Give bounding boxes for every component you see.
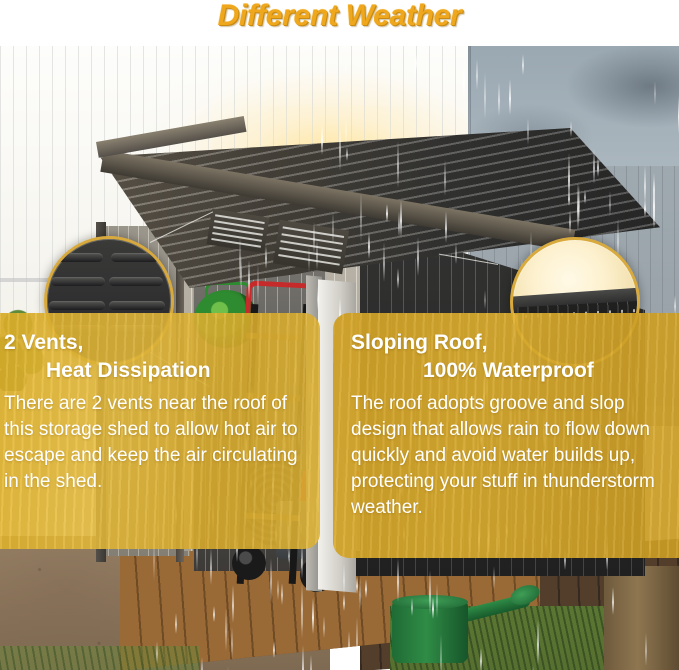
grass-left	[0, 646, 200, 670]
headline-line-2: 100% Waterproof	[351, 357, 671, 385]
headline-line-2: Heat Dissipation	[4, 357, 306, 385]
feature-headline-roof: Sloping Roof, 100% Waterproof	[351, 329, 671, 385]
feature-headline-vents: 2 Vents, Heat Dissipation	[4, 329, 306, 385]
headline-line-1: Sloping Roof,	[351, 331, 487, 354]
headline-line-1: 2 Vents,	[4, 331, 83, 354]
infographic-root: Different Weather	[0, 0, 679, 670]
rain-drop	[344, 653, 346, 670]
watering-can-rim	[392, 595, 468, 609]
feature-panel-vents: 2 Vents, Heat Dissipation There are 2 ve…	[0, 313, 320, 549]
feature-body-roof: The roof adopts groove and slop design t…	[351, 391, 671, 521]
feature-body-vents: There are 2 vents near the roof of this …	[4, 391, 306, 495]
tree-trunk	[604, 566, 679, 670]
feature-panel-roof: Sloping Roof, 100% Waterproof The roof a…	[333, 313, 679, 558]
header-bar: Different Weather	[0, 0, 679, 46]
hand-truck-wheel	[232, 546, 266, 580]
green-watering-can	[392, 601, 468, 663]
page-title: Different Weather	[0, 0, 679, 33]
